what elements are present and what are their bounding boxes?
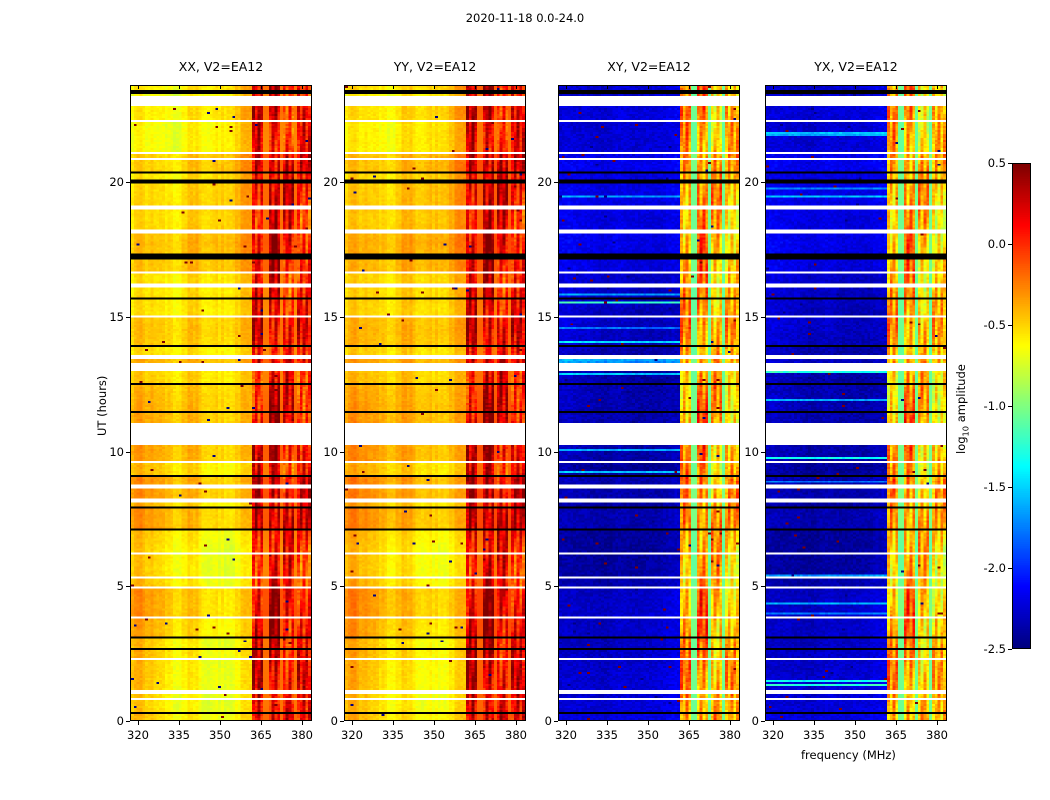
y-tick-label: 15 [731,310,759,324]
x-tick-label: 335 [382,728,404,742]
x-tick-label: 320 [341,728,363,742]
colorbar-tick-label: -2.5 [970,642,1006,656]
x-tick-mark-top [434,85,435,89]
x-tick-mark-top [730,85,731,89]
heatmap-panel-xx[interactable] [130,85,312,721]
colorbar-tick-label: 0.5 [970,156,1006,170]
figure-suptitle: 2020-11-18 0.0-24.0 [0,11,1050,25]
x-tick-mark [138,721,139,725]
x-tick-mark [855,721,856,725]
colorbar-tick-label: 0.0 [970,237,1006,251]
y-tick-label: 5 [310,579,338,593]
y-tick-mark [340,317,344,318]
x-tick-mark-top [475,85,476,89]
colorbar-tick-mark [1008,163,1012,164]
x-tick-mark-top [220,85,221,89]
y-tick-mark [340,182,344,183]
colorbar-tick-label: -1.5 [970,480,1006,494]
y-tick-mark [126,721,130,722]
x-tick-label: 365 [464,728,486,742]
y-tick-label: 0 [731,714,759,728]
x-tick-mark [302,721,303,725]
y-tick-label: 10 [524,445,552,459]
x-tick-mark [475,721,476,725]
y-tick-mark [340,721,344,722]
x-tick-mark [814,721,815,725]
y-tick-label: 20 [310,175,338,189]
x-tick-mark-top [352,85,353,89]
x-tick-label: 320 [762,728,784,742]
x-tick-mark-top [648,85,649,89]
y-tick-label: 5 [731,579,759,593]
x-tick-label: 320 [127,728,149,742]
y-tick-label: 10 [731,445,759,459]
colorbar[interactable] [1012,163,1031,649]
x-tick-mark [516,721,517,725]
x-tick-label: 380 [926,728,948,742]
x-tick-mark-top [261,85,262,89]
x-tick-mark [689,721,690,725]
x-tick-label: 380 [291,728,313,742]
colorbar-tick-mark [1008,487,1012,488]
x-tick-mark [393,721,394,725]
colorbar-tick-mark [1008,325,1012,326]
x-tick-label: 380 [505,728,527,742]
y-tick-mark [554,317,558,318]
heatmap-panel-yx[interactable] [765,85,947,721]
x-tick-mark [896,721,897,725]
x-axis-label: frequency (MHz) [801,748,896,762]
colorbar-tick-mark [1008,568,1012,569]
y-tick-mark [761,317,765,318]
colorbar-tick-label: -2.0 [970,561,1006,575]
y-tick-mark [340,452,344,453]
y-tick-label: 20 [524,175,552,189]
x-tick-mark [220,721,221,725]
x-tick-mark-top [516,85,517,89]
x-tick-mark-top [855,85,856,89]
x-tick-mark [648,721,649,725]
y-tick-mark [554,182,558,183]
y-tick-mark [126,586,130,587]
colorbar-label: log10 amplitude [954,364,970,454]
x-tick-mark-top [393,85,394,89]
x-tick-label: 320 [555,728,577,742]
heatmap-image-xx [131,86,311,720]
colorbar-tick-label: -1.0 [970,399,1006,413]
y-tick-mark [126,317,130,318]
x-tick-mark [607,721,608,725]
y-tick-label: 5 [96,579,124,593]
y-tick-mark [761,182,765,183]
y-tick-label: 20 [731,175,759,189]
heatmap-panel-yy[interactable] [344,85,526,721]
x-tick-mark-top [814,85,815,89]
x-tick-mark-top [607,85,608,89]
colorbar-label-subscript: 10 [960,426,970,437]
x-tick-label: 365 [885,728,907,742]
x-tick-label: 365 [250,728,272,742]
x-tick-label: 350 [423,728,445,742]
x-tick-label: 350 [209,728,231,742]
y-tick-label: 15 [524,310,552,324]
y-tick-mark [554,721,558,722]
x-tick-label: 350 [637,728,659,742]
x-tick-mark-top [773,85,774,89]
x-tick-mark-top [937,85,938,89]
y-tick-label: 15 [96,310,124,324]
figure-canvas: 2020-11-18 0.0-24.0 XX, V2=EA12320335350… [0,0,1050,800]
x-tick-mark-top [138,85,139,89]
panel-title-yx: YX, V2=EA12 [765,59,947,74]
panel-title-xx: XX, V2=EA12 [130,59,312,74]
x-tick-mark [352,721,353,725]
colorbar-tick-label: -0.5 [970,318,1006,332]
x-tick-mark-top [566,85,567,89]
y-tick-mark [340,586,344,587]
y-tick-mark [554,452,558,453]
x-tick-mark [261,721,262,725]
colorbar-label-suffix: amplitude [954,364,968,426]
y-tick-mark [126,452,130,453]
x-tick-mark-top [689,85,690,89]
x-tick-mark-top [896,85,897,89]
heatmap-image-xy [559,86,739,720]
x-tick-label: 335 [168,728,190,742]
x-tick-label: 365 [678,728,700,742]
colorbar-tick-mark [1008,244,1012,245]
y-tick-label: 20 [96,175,124,189]
y-axis-label: UT (hours) [95,376,109,436]
x-tick-label: 380 [719,728,741,742]
y-tick-label: 10 [96,445,124,459]
x-tick-mark [773,721,774,725]
x-tick-label: 335 [596,728,618,742]
panel-title-yy: YY, V2=EA12 [344,59,526,74]
x-tick-mark [566,721,567,725]
y-tick-label: 5 [524,579,552,593]
y-tick-mark [761,586,765,587]
heatmap-panel-xy[interactable] [558,85,740,721]
x-tick-mark [434,721,435,725]
y-tick-mark [761,721,765,722]
x-tick-label: 335 [803,728,825,742]
colorbar-tick-mark [1008,406,1012,407]
y-tick-label: 0 [524,714,552,728]
colorbar-tick-mark [1008,649,1012,650]
panel-title-xy: XY, V2=EA12 [558,59,740,74]
y-tick-label: 0 [310,714,338,728]
y-tick-label: 10 [310,445,338,459]
y-tick-label: 0 [96,714,124,728]
x-tick-label: 350 [844,728,866,742]
x-tick-mark [179,721,180,725]
x-tick-mark-top [302,85,303,89]
y-tick-label: 15 [310,310,338,324]
y-tick-mark [126,182,130,183]
y-tick-mark [761,452,765,453]
x-tick-mark [937,721,938,725]
heatmap-image-yy [345,86,525,720]
colorbar-label-prefix: log [954,436,968,454]
heatmap-image-yx [766,86,946,720]
x-tick-mark-top [179,85,180,89]
y-tick-mark [554,586,558,587]
